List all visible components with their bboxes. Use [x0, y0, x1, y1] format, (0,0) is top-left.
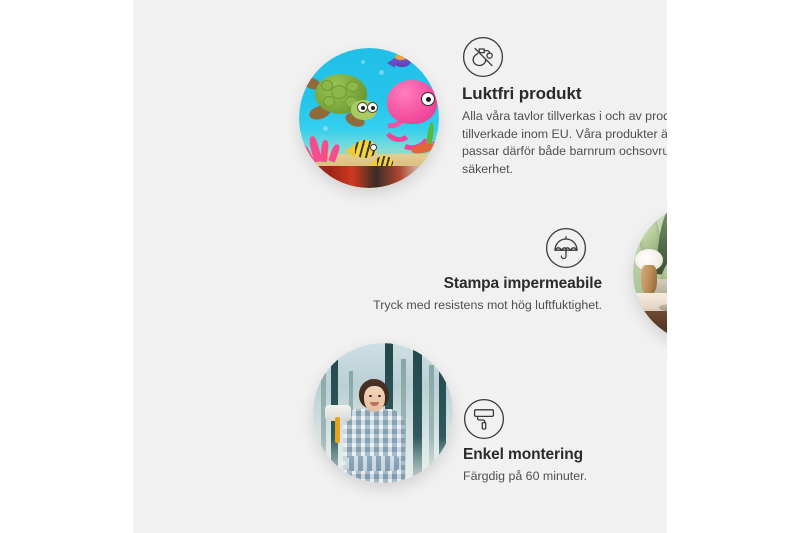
bubble-icon [323, 126, 328, 131]
woman-eye [378, 395, 381, 397]
bathroom-tropical-wallpaper-photo [633, 203, 667, 343]
woman-with-paint-roller-photo [313, 343, 453, 483]
seafloor-strip [299, 166, 439, 188]
feature-title: Enkel montering [463, 446, 667, 464]
feature-body: Färgdig på 60 minuter. [463, 468, 667, 486]
no-fragrance-icon [462, 36, 667, 78]
underwater-childrens-scene-photo [299, 48, 439, 188]
vase-icon [641, 265, 657, 295]
feature-title: Stampa impermeabile [340, 275, 602, 293]
wooden-vanity-cabinet [641, 311, 667, 343]
striped-fish-tail-icon [345, 144, 355, 158]
feature-body: Alla våra tavlor tillverkas i och av pro… [462, 108, 667, 178]
woman-plaid-shirt [343, 409, 405, 483]
woman-face [364, 386, 385, 412]
product-features-panel: Luktfri produkt Alla våra tavlor tillver… [133, 0, 667, 533]
umbrella-icon [545, 227, 602, 269]
paint-roller-handle [335, 417, 340, 443]
bubble-icon [361, 60, 365, 64]
striped-fish-eye-icon [370, 144, 377, 151]
woman-eye [369, 395, 372, 397]
feature-block-odourless: Luktfri produkt Alla våra tavlor tillver… [462, 36, 667, 178]
octopus-eye-icon [421, 92, 435, 106]
woman-crossed-arm [345, 456, 401, 471]
purple-fish-fin-icon [395, 54, 407, 60]
feature-block-waterproof: Stampa impermeabile Tryck med resistens … [340, 227, 602, 315]
paint-roller-icon [463, 398, 667, 440]
feature-title: Luktfri produkt [462, 84, 667, 104]
purple-fish-tail-icon [387, 58, 395, 68]
screenshot-canvas: Luktfri produkt Alla våra tavlor tillver… [0, 0, 800, 533]
bubble-icon [379, 70, 384, 75]
feature-body: Tryck med resistens mot hög luftfuktighe… [340, 297, 602, 315]
feature-block-assembly: Enkel montering Färgdig på 60 minuter. [463, 398, 667, 486]
